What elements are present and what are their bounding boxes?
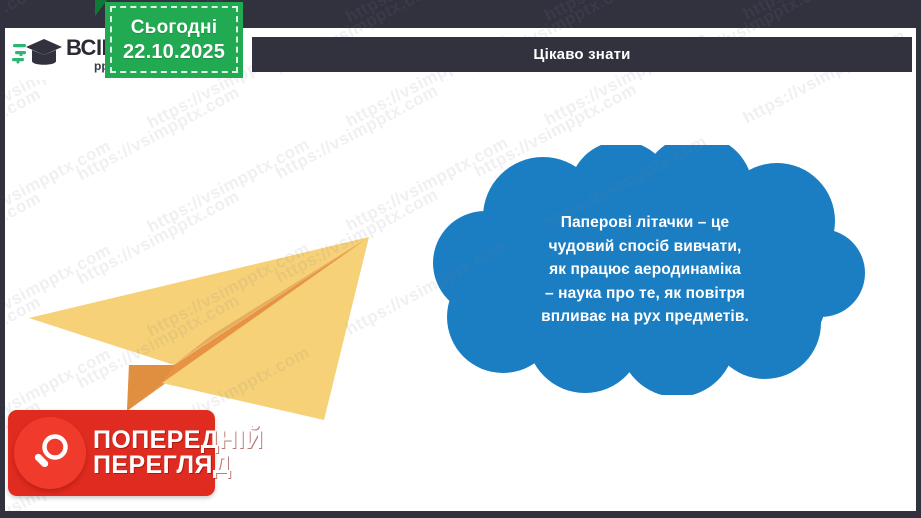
cloud-text-block: Паперові літачки – це чудовий спосіб вив… [425,145,865,395]
preview-badge[interactable]: ПОПЕРЕДНІЙ ПЕРЕГЛЯД [8,410,215,496]
today-date: 22.10.2025 [123,41,225,64]
bottom-dark-strip [0,511,921,518]
cloud-line: – наука про те, як повітря [545,282,745,306]
today-date-badge: Сьогодні 22.10.2025 [105,2,243,78]
left-dark-border [0,0,5,518]
preview-line-1: ПОПЕРЕДНІЙ [93,428,263,454]
paper-airplane-illustration [24,215,394,435]
page-title: Цікаво знати [533,46,630,63]
cloud-line: Паперові літачки – це [561,211,730,235]
preview-line-2: ПЕРЕГЛЯД [93,453,263,479]
right-dark-border [916,0,921,518]
graduation-cap-icon [12,35,62,73]
cloud-line: як працює аеродинаміка [549,258,741,282]
cloud-line: впливає на рух предметів. [541,305,749,329]
preview-badge-text: ПОПЕРЕДНІЙ ПЕРЕГЛЯД [91,428,263,479]
cloud-line: чудовий спосіб вивчати, [549,235,742,259]
today-label: Сьогодні [131,17,217,39]
magnifier-icon [14,417,86,489]
slide-root: Паперові літачки – це чудовий спосіб вив… [0,0,921,518]
info-cloud: Паперові літачки – це чудовий спосіб вив… [425,145,865,395]
slide-title-bar: Цікаво знати [252,37,912,72]
